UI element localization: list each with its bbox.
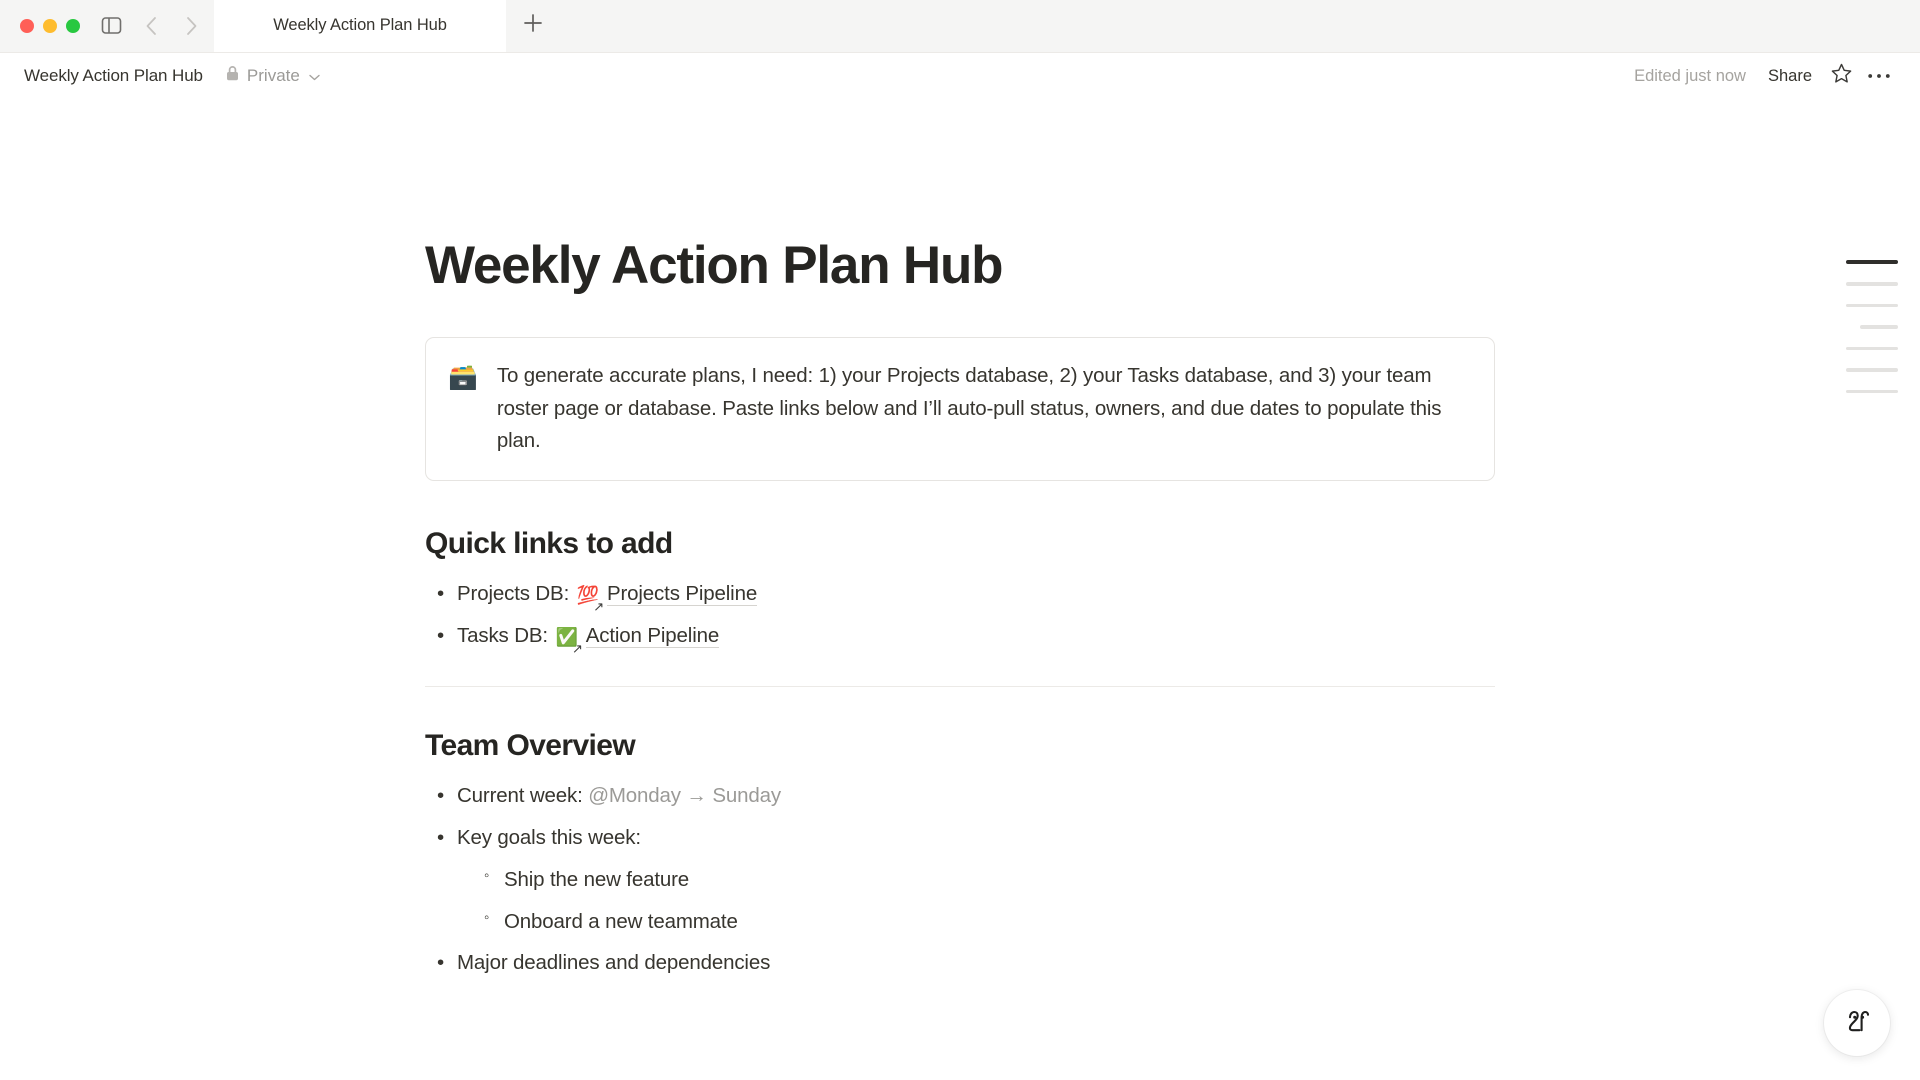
bullet-marker: • (425, 578, 457, 610)
list-item-content: Current week: @Monday → Sunday (457, 780, 1495, 812)
toc-item[interactable] (1846, 347, 1898, 351)
new-tab-button[interactable] (506, 0, 560, 52)
nav-back-button[interactable] (134, 9, 168, 43)
minimize-window-button[interactable] (43, 19, 57, 33)
chevron-down-icon (309, 70, 320, 83)
favorite-button[interactable] (1822, 57, 1860, 95)
list-item-content: Onboard a new teammate (504, 906, 1495, 938)
bullet-marker: • (425, 822, 457, 854)
list-item-prefix: Projects DB: (457, 582, 575, 605)
list-item[interactable]: • Major deadlines and dependencies (425, 942, 1495, 984)
share-button[interactable]: Share (1758, 67, 1822, 86)
list-item[interactable]: • Key goals this week: (425, 817, 1495, 859)
list-item-content: Ship the new feature (504, 864, 1495, 896)
list-item[interactable]: • Projects DB: 💯↗Projects Pipeline (425, 573, 1495, 615)
link-arrow-icon: ↗ (593, 600, 604, 613)
edited-status: Edited just now (1622, 67, 1758, 86)
list-item[interactable]: ◦ Ship the new feature (472, 859, 1495, 901)
toc-item[interactable] (1846, 282, 1898, 286)
toc-item[interactable] (1846, 368, 1898, 372)
callout-block[interactable]: 🗃️ To generate accurate plans, I need: 1… (425, 337, 1495, 481)
chevron-right-icon (185, 16, 198, 36)
date-mention[interactable]: @Monday → Sunday (588, 784, 781, 807)
list-item-prefix: Current week: (457, 784, 588, 807)
hundred-points-emoji: 💯↗ (577, 582, 599, 610)
card-file-box-emoji: 🗃️ (448, 360, 478, 457)
list-item-content: Projects DB: 💯↗Projects Pipeline (457, 578, 1495, 610)
list-item-content: Tasks DB: ✅↗Action Pipeline (457, 620, 1495, 652)
chevron-left-icon (145, 16, 158, 36)
link-arrow-icon: ↗ (572, 642, 583, 655)
list-item[interactable]: ◦ Onboard a new teammate (472, 901, 1495, 943)
bullet-marker: ◦ (472, 864, 504, 887)
header-actions: Edited just now Share (1622, 57, 1898, 95)
tab-weekly-action-plan-hub[interactable]: Weekly Action Plan Hub (214, 0, 506, 52)
table-of-contents-minimap[interactable] (1846, 260, 1898, 393)
breadcrumb[interactable]: Weekly Action Plan Hub (24, 66, 203, 86)
team-overview-list: • Current week: @Monday → Sunday • Key g… (425, 775, 1495, 984)
sidebar-toggle-button[interactable] (94, 9, 128, 43)
callout-text: To generate accurate plans, I need: 1) y… (497, 360, 1470, 457)
list-item[interactable]: • Current week: @Monday → Sunday (425, 775, 1495, 817)
star-icon (1830, 62, 1853, 90)
tab-strip: Weekly Action Plan Hub (214, 0, 1920, 52)
bullet-marker: • (425, 780, 457, 812)
more-options-button[interactable] (1860, 57, 1898, 95)
maximize-window-button[interactable] (66, 19, 80, 33)
section-heading-team-overview[interactable]: Team Overview (425, 729, 1495, 763)
list-item[interactable]: • Tasks DB: ✅↗Action Pipeline (425, 615, 1495, 657)
close-window-button[interactable] (20, 19, 34, 33)
section-divider (425, 686, 1495, 687)
bullet-marker: • (425, 620, 457, 652)
toc-item[interactable] (1846, 260, 1898, 264)
notion-ai-face-icon (1840, 1004, 1874, 1043)
document-content: Weekly Action Plan Hub 🗃️ To generate ac… (425, 99, 1495, 984)
list-item-content: Key goals this week: (457, 822, 1495, 854)
tab-label: Weekly Action Plan Hub (273, 16, 447, 35)
bullet-marker: • (425, 947, 457, 979)
section-heading-quick-links[interactable]: Quick links to add (425, 527, 1495, 561)
toc-item[interactable] (1846, 390, 1898, 394)
key-goals-sublist: ◦ Ship the new feature ◦ Onboard a new t… (472, 859, 1495, 943)
notion-ai-button[interactable] (1824, 990, 1890, 1056)
window-traffic-lights (0, 0, 94, 52)
page-link-action-pipeline[interactable]: Action Pipeline (586, 624, 719, 648)
check-mark-button-emoji: ✅↗ (555, 624, 577, 652)
toc-item[interactable] (1860, 325, 1898, 329)
page-scroll-area[interactable]: Weekly Action Plan Hub 🗃️ To generate ac… (0, 99, 1920, 1080)
browser-tab-bar: Weekly Action Plan Hub (0, 0, 1920, 53)
bullet-marker: ◦ (472, 906, 504, 929)
toc-item[interactable] (1846, 304, 1898, 308)
page-link-projects-pipeline[interactable]: Projects Pipeline (607, 582, 757, 606)
sidebar-toggle-icon (101, 16, 122, 35)
list-item-prefix: Tasks DB: (457, 624, 553, 647)
privacy-selector[interactable]: Private (225, 65, 320, 87)
list-item-content: Major deadlines and dependencies (457, 947, 1495, 979)
page-header-bar: Weekly Action Plan Hub Private Edited ju… (0, 53, 1920, 99)
ellipsis-icon (1867, 67, 1891, 85)
privacy-label: Private (247, 66, 300, 86)
quick-links-list: • Projects DB: 💯↗Projects Pipeline • Tas… (425, 573, 1495, 657)
plus-icon (522, 12, 544, 39)
nav-forward-button[interactable] (174, 9, 208, 43)
window-navigation-controls (94, 0, 214, 52)
lock-icon (225, 65, 240, 87)
page-title[interactable]: Weekly Action Plan Hub (425, 236, 1495, 295)
